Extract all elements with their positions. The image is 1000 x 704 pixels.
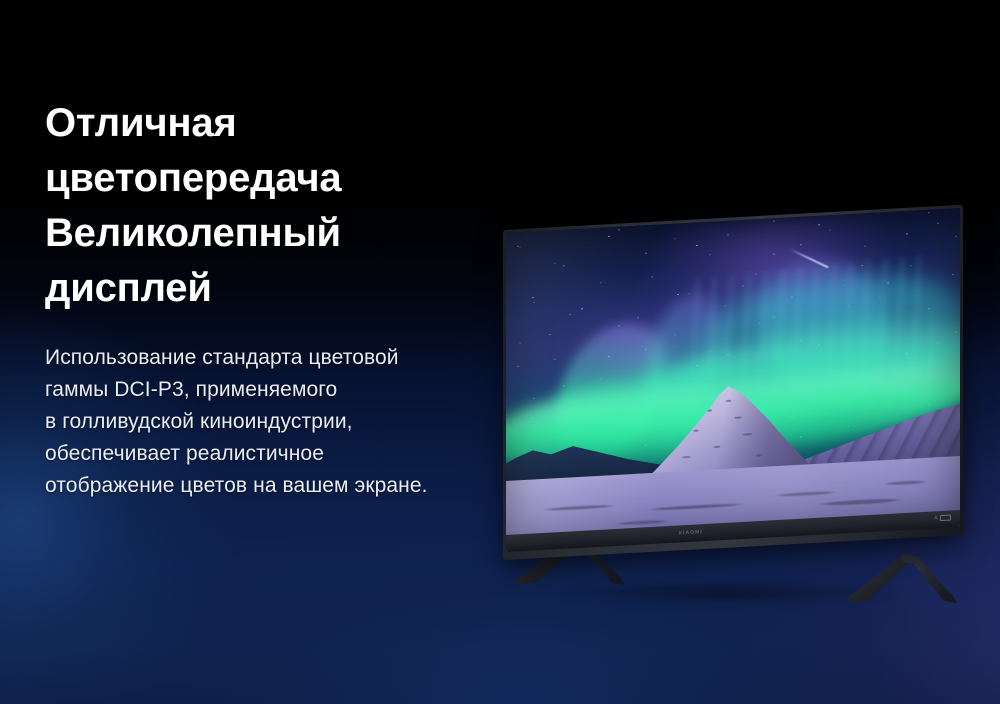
tv-model-badge-mark — [940, 515, 951, 522]
copy-block: Отличная цветопередача Великолепный дисп… — [45, 96, 515, 502]
brand-logo: XIAOMI — [679, 529, 703, 536]
tv-screen-vignette — [506, 208, 960, 551]
tv-floor-shadow — [515, 580, 935, 606]
tv-panel — [506, 208, 960, 551]
television-product-image: XIAOMI A — [495, 186, 975, 586]
description-paragraph: Использование стандарта цветовой гаммы D… — [45, 316, 515, 502]
page-title: Отличная цветопередача Великолепный дисп… — [45, 96, 515, 316]
tv-model-badge-label: A — [934, 515, 938, 521]
tv-model-badge: A — [934, 515, 951, 522]
tv-screen-content — [506, 208, 960, 551]
promo-banner: Отличная цветопередача Великолепный дисп… — [0, 0, 1000, 704]
